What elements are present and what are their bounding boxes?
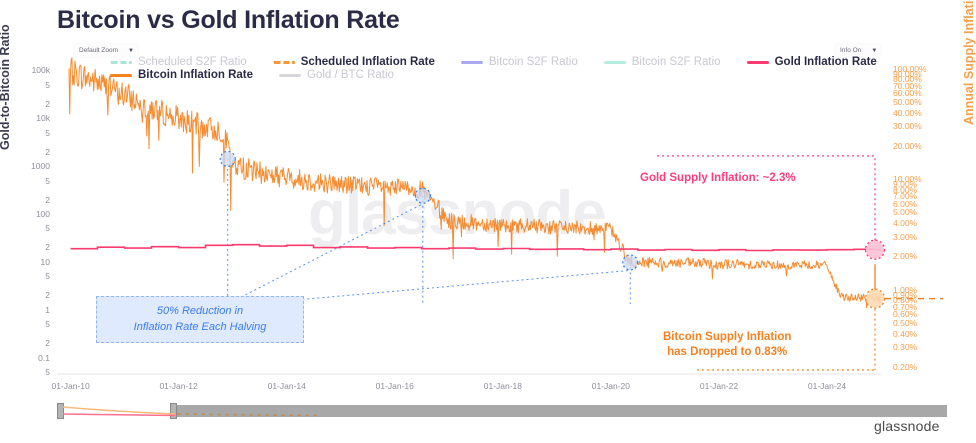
y-axis-left-tick: 5 bbox=[0, 223, 50, 233]
x-axis-tick: 01-Jan-24 bbox=[808, 381, 846, 391]
x-axis-tick: 01-Jan-14 bbox=[268, 381, 306, 391]
page-title: Bitcoin vs Gold Inflation Rate bbox=[57, 6, 400, 35]
y-axis-left-tick: 1 bbox=[0, 305, 50, 315]
range-handle-left[interactable] bbox=[57, 403, 64, 419]
annotation-halving: 50% Reduction in Inflation Rate Each Hal… bbox=[96, 296, 304, 343]
y-axis-right-tick: 5.00% bbox=[893, 207, 917, 217]
y-axis-right-tick: 0.40% bbox=[893, 329, 917, 339]
y-axis-right-tick: 40.00% bbox=[893, 108, 922, 118]
y-axis-left-tick: 2 bbox=[0, 147, 50, 157]
x-axis-tick: 01-Jan-10 bbox=[51, 381, 89, 391]
range-selector-track[interactable] bbox=[57, 405, 947, 417]
info-toggle-label: Info On bbox=[840, 47, 861, 54]
chevron-down-icon: ▼ bbox=[128, 48, 134, 54]
y-axis-right-tick: 2.00% bbox=[893, 251, 917, 261]
annotation-gold: Gold Supply Inflation: ~2.3% bbox=[640, 172, 796, 184]
chevron-down-icon: ▼ bbox=[871, 48, 877, 54]
y-axis-right-tick: 0.20% bbox=[893, 362, 917, 372]
y-axis-left-tick: 5 bbox=[0, 319, 50, 329]
y-axis-right-tick: 4.00% bbox=[893, 218, 917, 228]
range-handle-right[interactable] bbox=[170, 403, 177, 419]
y-axis-left-tick: 100 bbox=[0, 209, 50, 219]
glassnode-logo: glassnode bbox=[874, 418, 940, 434]
y-axis-left-tick: 5 bbox=[0, 176, 50, 186]
y-axis-left-tick: 5 bbox=[0, 271, 50, 281]
y-axis-left-tick: 2 bbox=[0, 195, 50, 205]
y-axis-right-tick: 20.00% bbox=[893, 141, 922, 151]
y-axis-left-tick: 0.1 bbox=[0, 353, 50, 363]
y-axis-left-tick: 10 bbox=[0, 257, 50, 267]
range-selector-window[interactable] bbox=[57, 403, 177, 419]
y-axis-right-title: Annual Supply Inflation Rate (%) bbox=[962, 0, 976, 125]
annotation-bitcoin-line1: Bitcoin Supply Inflation bbox=[663, 330, 791, 345]
y-axis-right-tick: 3.00% bbox=[893, 232, 917, 242]
y-axis-left-tick: 2 bbox=[0, 290, 50, 300]
y-axis-right-tick: 0.50% bbox=[893, 318, 917, 328]
y-axis-right-tick: 30.00% bbox=[893, 121, 922, 131]
annotation-halving-line2: Inflation Rate Each Halving bbox=[97, 319, 303, 335]
y-axis-left-tick: 100k bbox=[0, 65, 50, 75]
annotation-bitcoin: Bitcoin Supply Inflation has Dropped to … bbox=[663, 330, 791, 360]
y-axis-left-tick: 5 bbox=[0, 128, 50, 138]
y-axis-left-tick: 2 bbox=[0, 242, 50, 252]
y-axis-right-tick: 0.30% bbox=[893, 342, 917, 352]
x-axis-tick: 01-Jan-16 bbox=[376, 381, 414, 391]
x-axis-tick: 01-Jan-22 bbox=[700, 381, 738, 391]
y-axis-left-tick: 2 bbox=[0, 99, 50, 109]
halving-connector-line bbox=[228, 204, 423, 304]
range-selector[interactable] bbox=[57, 403, 947, 419]
x-axis-tick: 01-Jan-18 bbox=[484, 381, 522, 391]
annotation-bitcoin-line2: has Dropped to 0.83% bbox=[663, 345, 791, 360]
x-axis-tick: 01-Jan-12 bbox=[159, 381, 197, 391]
y-axis-left-tick: 5 bbox=[0, 367, 50, 377]
x-axis-tick: 01-Jan-20 bbox=[592, 381, 630, 391]
y-axis-left-tick: 5 bbox=[0, 80, 50, 90]
y-axis-left-tick: 10k bbox=[0, 113, 50, 123]
y-axis-left-tick: 2 bbox=[0, 338, 50, 348]
zoom-preset-label: Default Zoom bbox=[79, 47, 118, 54]
series-line-gold-inflation-rate bbox=[71, 245, 881, 251]
annotation-halving-line1: 50% Reduction in bbox=[97, 303, 303, 319]
y-axis-left-tick: 1000 bbox=[0, 161, 50, 171]
y-axis-right-tick: 50.00% bbox=[893, 97, 922, 107]
